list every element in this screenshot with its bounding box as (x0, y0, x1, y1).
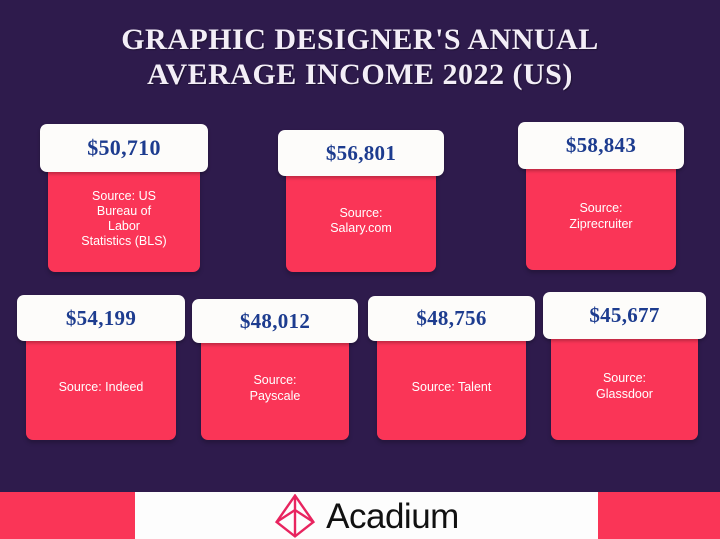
income-card-indeed-amount: $54,199 (66, 306, 136, 331)
income-card-ziprecruiter-body: Source: Ziprecruiter (526, 163, 676, 270)
income-card-bls: $50,710 Source: US Bureau of Labor Stati… (40, 124, 208, 272)
income-card-ziprecruiter: $58,843 Source: Ziprecruiter (518, 122, 684, 270)
income-card-glassdoor: $45,677 Source: Glassdoor (543, 292, 706, 440)
source-line: Source: (579, 201, 622, 215)
footer-brand-panel: Acadium (135, 492, 598, 539)
income-card-bls-amount: $50,710 (87, 135, 161, 161)
income-card-indeed: $54,199 Source: Indeed (17, 295, 185, 440)
income-card-talent: $48,756 Source: Talent (368, 296, 535, 440)
page-title: GRAPHIC DESIGNER'S ANNUAL AVERAGE INCOME… (0, 22, 720, 93)
income-card-talent-source: Source: Talent (406, 380, 498, 395)
source-line: Source: (253, 373, 296, 387)
income-card-payscale-source: Source: Payscale (244, 373, 307, 404)
source-line: Labor (108, 219, 140, 233)
income-card-ziprecruiter-source: Source: Ziprecruiter (563, 201, 638, 232)
income-card-indeed-body: Source: Indeed (26, 335, 176, 440)
income-card-ziprecruiter-header: $58,843 (518, 122, 684, 169)
source-line: Source: (603, 371, 646, 385)
source-line: Glassdoor (596, 387, 653, 401)
income-card-salary-com-body: Source: Salary.com (286, 170, 436, 272)
infographic-canvas: GRAPHIC DESIGNER'S ANNUAL AVERAGE INCOME… (0, 0, 720, 539)
income-card-glassdoor-body: Source: Glassdoor (551, 333, 698, 440)
source-line: Salary.com (330, 221, 392, 235)
income-card-glassdoor-amount: $45,677 (589, 303, 659, 328)
income-card-ziprecruiter-amount: $58,843 (566, 133, 636, 158)
acadium-diamond-logo-icon (274, 494, 316, 538)
income-card-talent-header: $48,756 (368, 296, 535, 341)
income-card-bls-header: $50,710 (40, 124, 208, 172)
income-card-indeed-header: $54,199 (17, 295, 185, 341)
income-card-talent-amount: $48,756 (416, 306, 486, 331)
income-card-talent-body: Source: Talent (377, 335, 526, 440)
income-card-indeed-source: Source: Indeed (53, 380, 150, 395)
income-card-payscale-body: Source: Payscale (201, 337, 349, 440)
source-line: Payscale (250, 389, 301, 403)
income-card-payscale: $48,012 Source: Payscale (192, 299, 358, 440)
income-card-salary-com-header: $56,801 (278, 130, 444, 176)
income-card-glassdoor-source: Source: Glassdoor (590, 371, 659, 402)
source-line: Statistics (BLS) (81, 234, 166, 248)
source-line: Source: Talent (412, 380, 492, 394)
income-card-salary-com-amount: $56,801 (326, 141, 396, 166)
source-line: Source: Indeed (59, 380, 144, 394)
income-card-salary-com-source: Source: Salary.com (324, 206, 398, 237)
brand-name: Acadium (326, 499, 459, 534)
income-card-glassdoor-header: $45,677 (543, 292, 706, 339)
page-title-line-1: GRAPHIC DESIGNER'S ANNUAL (0, 22, 720, 57)
income-card-payscale-header: $48,012 (192, 299, 358, 343)
source-line: Source: (339, 206, 382, 220)
income-card-bls-body: Source: US Bureau of Labor Statistics (B… (48, 166, 200, 272)
income-card-payscale-amount: $48,012 (240, 309, 310, 334)
source-line: Ziprecruiter (569, 217, 632, 231)
source-line: Source: US (92, 189, 156, 203)
source-line: Bureau of (97, 204, 151, 218)
income-card-bls-source: Source: US Bureau of Labor Statistics (B… (75, 189, 172, 250)
page-title-line-2: AVERAGE INCOME 2022 (US) (0, 57, 720, 92)
income-card-salary-com: $56,801 Source: Salary.com (278, 130, 444, 272)
